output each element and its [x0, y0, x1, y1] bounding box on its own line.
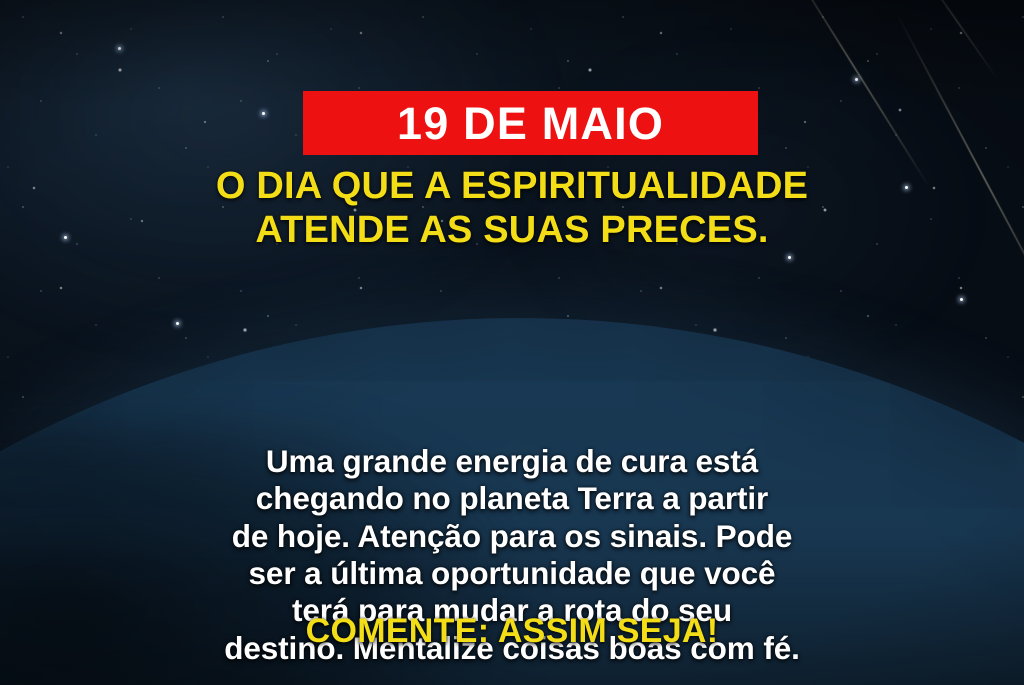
call-to-action-text: COMENTE: ASSIM SEJA! [0, 612, 1024, 651]
headline-line-1: O DIA QUE A ESPIRITUALIDADE [0, 164, 1024, 208]
body-line-1: Uma grande energia de cura está [0, 443, 1024, 480]
body-line-3: de hoje. Atenção para os sinais. Pode [0, 518, 1024, 555]
poster-canvas: 19 DE MAIO O DIA QUE A ESPIRITUALIDADE A… [0, 0, 1024, 685]
date-badge: 19 DE MAIO [303, 91, 758, 155]
date-badge-label: 19 DE MAIO [397, 101, 664, 146]
headline-line-2: ATENDE AS SUAS PRECES. [0, 208, 1024, 252]
poster-content: 19 DE MAIO O DIA QUE A ESPIRITUALIDADE A… [0, 0, 1024, 685]
headline: O DIA QUE A ESPIRITUALIDADE ATENDE AS SU… [0, 164, 1024, 252]
body-line-4: ser a última oportunidade que você [0, 555, 1024, 592]
body-line-2: chegando no planeta Terra a partir [0, 480, 1024, 517]
